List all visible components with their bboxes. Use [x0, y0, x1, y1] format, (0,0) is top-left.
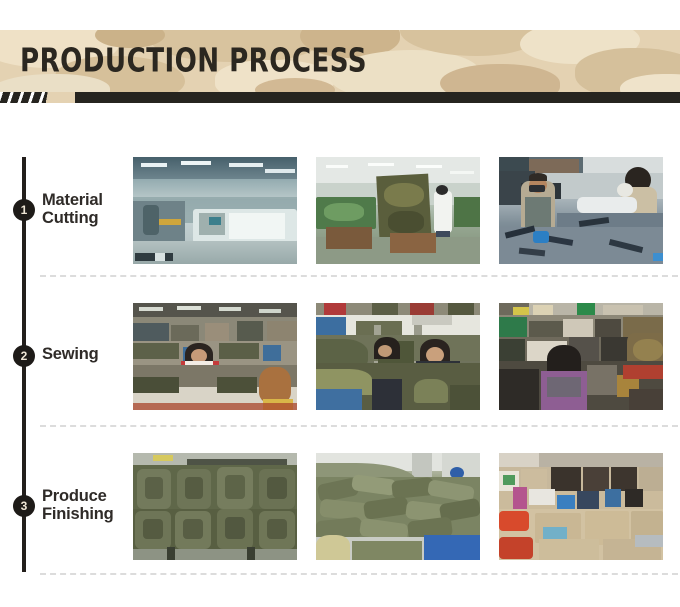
photo-region: [499, 511, 529, 531]
photo-region: [372, 303, 398, 315]
photo-region: [563, 319, 593, 339]
process-photo[interactable]: [133, 303, 297, 410]
photo-region: [225, 517, 245, 539]
photo-region: [388, 211, 424, 233]
photo-region: [139, 307, 163, 311]
process-step-row: 2 Sewing: [0, 303, 680, 413]
photo-region: [450, 385, 480, 410]
photo-region: [209, 217, 221, 225]
photo-region: [352, 541, 422, 560]
photo-region: [143, 205, 159, 235]
step-number-badge: 3: [13, 495, 35, 517]
photo-region: [183, 519, 203, 539]
process-photo[interactable]: [316, 303, 480, 410]
step-number-badge: 2: [13, 345, 35, 367]
photo-region: [133, 403, 297, 410]
photo-region: [133, 157, 297, 179]
photo-region: [267, 477, 287, 499]
photo-region: [577, 197, 637, 213]
photo-region: [525, 197, 551, 227]
step-label-line1: Produce: [42, 487, 114, 505]
production-process-page: PRODUCTION PROCESS 1 Material Cutting: [0, 0, 680, 607]
photo-region: [603, 305, 643, 315]
photo-region: [267, 519, 287, 539]
photo-region: [141, 163, 167, 167]
photo-region: [167, 547, 175, 560]
step-number-badge: 1: [13, 199, 35, 221]
photo-region: [155, 253, 165, 261]
photo-region: [219, 343, 259, 359]
step-label: Produce Finishing: [42, 487, 114, 524]
photo-region: [133, 179, 297, 199]
photo-region: [247, 547, 255, 560]
photo-region: [436, 185, 448, 195]
row-separator: [40, 275, 678, 277]
photo-region: [133, 343, 179, 359]
process-photo[interactable]: [499, 157, 663, 264]
photo-region: [153, 455, 173, 461]
photo-region: [225, 475, 245, 499]
photo-region: [448, 303, 474, 315]
photo-region: [503, 475, 515, 485]
photo-region: [324, 203, 364, 221]
photo-region: [259, 309, 281, 313]
photo-region: [529, 173, 547, 181]
step-label-line2: Finishing: [42, 505, 114, 523]
photo-region: [316, 317, 346, 337]
photo-region: [623, 365, 663, 379]
row-separator: [40, 573, 678, 575]
photo-region: [316, 535, 350, 560]
photo-region: [372, 379, 402, 410]
photo-region: [324, 303, 346, 315]
photo-region: [605, 489, 621, 507]
photo-region: [529, 159, 579, 173]
photo-region: [229, 213, 285, 239]
photo-region: [424, 535, 480, 560]
process-photo[interactable]: [499, 303, 663, 410]
photo-region: [454, 197, 480, 227]
photo-region: [384, 183, 424, 207]
photo-region: [181, 161, 211, 165]
photo-region: [219, 307, 241, 311]
photo-region: [177, 306, 201, 310]
process-photo[interactable]: [316, 157, 480, 264]
process-photo[interactable]: [316, 453, 480, 560]
photo-region: [595, 319, 621, 339]
photo-region: [145, 477, 163, 499]
photo-region: [237, 321, 263, 343]
process-step-row: 3 Produce Finishing: [0, 453, 680, 563]
photo-region: [217, 377, 257, 393]
process-photo[interactable]: [133, 157, 297, 264]
row-separator: [40, 425, 678, 427]
photo-region: [326, 165, 348, 168]
photo-region: [133, 377, 179, 393]
camo-blob: [440, 64, 560, 92]
photo-region: [539, 539, 599, 560]
photo-region: [499, 369, 539, 410]
photo-region: [368, 163, 394, 166]
photo-region: [205, 323, 229, 343]
photo-region: [499, 537, 533, 559]
photo-region: [143, 519, 163, 539]
photo-region: [263, 345, 281, 361]
header-bottom-stripe: [0, 92, 680, 103]
photo-region: [653, 253, 663, 261]
photo-region: [635, 535, 663, 547]
photo-region: [499, 339, 525, 363]
photo-region: [587, 365, 617, 395]
photo-region: [326, 227, 372, 249]
photo-region: [390, 233, 436, 253]
photo-region: [529, 489, 555, 505]
photo-region: [416, 165, 442, 168]
step-label-line2: Cutting: [42, 209, 103, 227]
step-label: Sewing: [42, 345, 99, 363]
photo-region: [267, 321, 297, 343]
page-title: PRODUCTION PROCESS: [20, 41, 367, 80]
step-label-line1: Sewing: [42, 345, 99, 363]
photo-region: [617, 183, 633, 197]
photo-region: [434, 191, 452, 233]
photo-region: [633, 339, 663, 361]
process-step-row: 1 Material Cutting: [0, 157, 680, 267]
photo-region: [450, 171, 474, 174]
step-label-line1: Material: [42, 191, 103, 209]
photo-region: [529, 185, 545, 192]
photo-region: [265, 169, 295, 173]
photo-region: [259, 367, 291, 403]
photo-region: [533, 305, 553, 315]
photo-region: [513, 487, 527, 509]
photo-region: [533, 231, 549, 243]
photo-region: [135, 253, 173, 261]
photo-region: [159, 219, 181, 225]
process-photo[interactable]: [133, 453, 297, 560]
photo-region: [547, 377, 581, 397]
stripe-angled-edge: [0, 92, 75, 103]
step-label: Material Cutting: [42, 191, 103, 228]
photo-region: [133, 549, 297, 560]
photo-region: [414, 379, 448, 403]
photo-region: [625, 489, 643, 507]
photo-region: [229, 163, 263, 167]
photo-region: [412, 315, 452, 325]
page-header-banner: PRODUCTION PROCESS: [0, 30, 680, 92]
photo-region: [185, 477, 203, 499]
photo-region: [316, 389, 362, 410]
photo-region: [543, 527, 567, 539]
process-photo[interactable]: [499, 453, 663, 560]
photo-region: [378, 345, 392, 357]
photo-region: [410, 303, 434, 315]
photo-region: [629, 389, 663, 410]
